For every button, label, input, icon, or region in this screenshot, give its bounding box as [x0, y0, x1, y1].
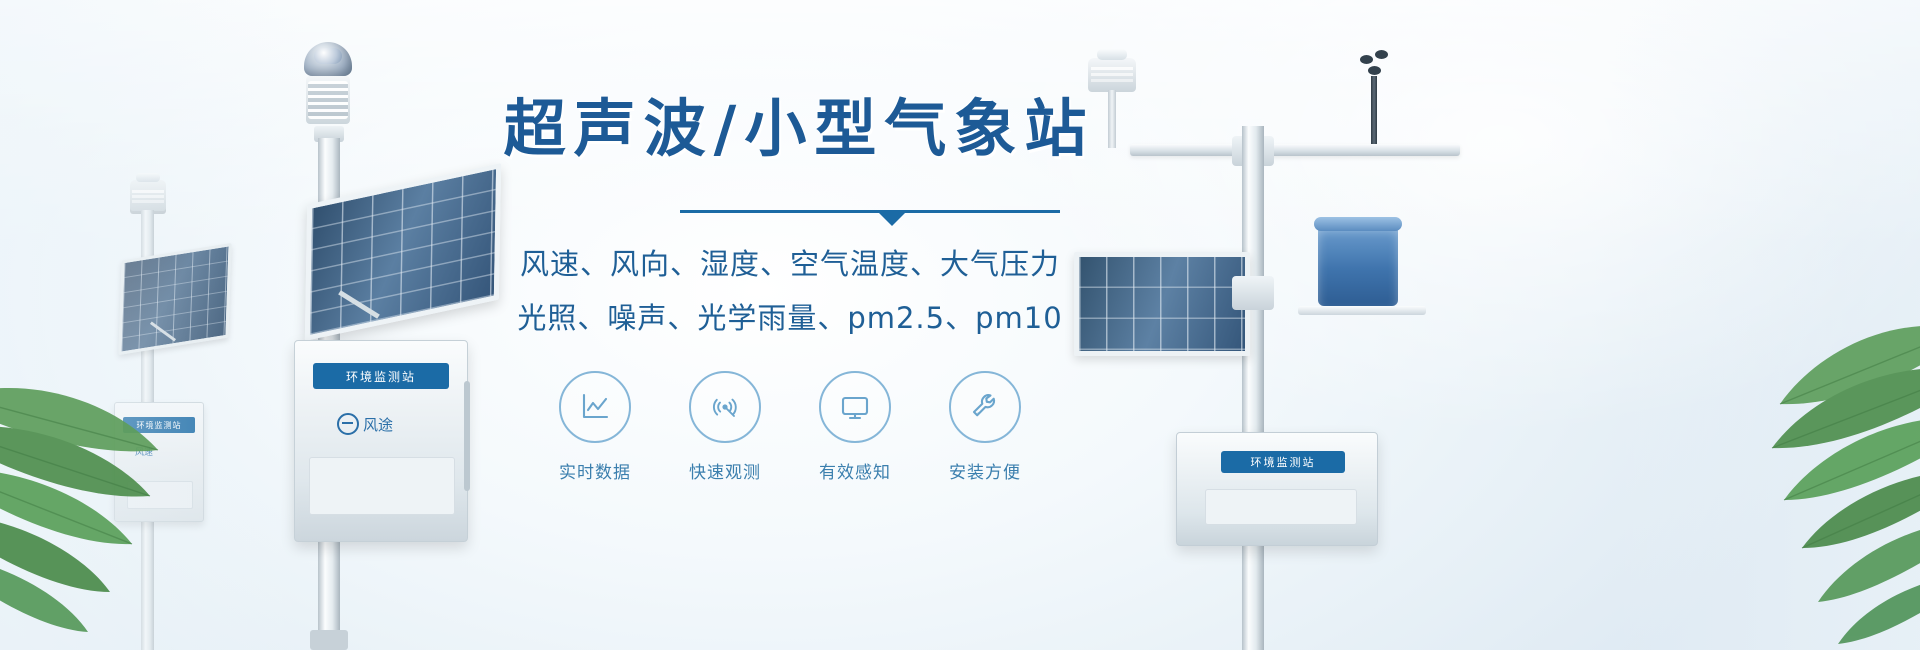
- mast-base: [310, 630, 348, 650]
- feature-list: 实时数据 快速观测: [553, 371, 1027, 483]
- wrench-tool-icon: [949, 371, 1021, 443]
- rain-gauge-shelf: [1298, 306, 1426, 315]
- title-divider: [680, 201, 1060, 227]
- mid-mast-clamp: [1232, 276, 1274, 310]
- feature-label: 安装方便: [949, 458, 1021, 483]
- subtitle-line-2: 光照、噪声、光学雨量、pm2.5、pm10: [517, 295, 1062, 337]
- feature-item-realtime-data[interactable]: 实时数据: [553, 371, 637, 483]
- leaf-decoration-right-icon: [1680, 286, 1920, 650]
- banner-content: 超声波/小型气象站 风速、风向、湿度、空气温度、大气压力 光照、噪声、光学雨量、…: [430, 96, 1150, 516]
- feature-label: 有效感知: [819, 458, 891, 483]
- feature-item-easy-installation[interactable]: 安装方便: [943, 371, 1027, 483]
- anemometer-stem: [1371, 76, 1377, 148]
- line-chart-icon: [559, 371, 631, 443]
- feature-item-effective-sensing[interactable]: 有效感知: [813, 371, 897, 483]
- leaf-decoration-left-icon: [0, 330, 240, 650]
- feature-item-fast-observation[interactable]: 快速观测: [683, 371, 767, 483]
- page-title: 超声波/小型气象站: [504, 96, 1095, 161]
- cross-arm: [1130, 144, 1460, 156]
- subtitle-line-1: 风速、风向、湿度、空气温度、大气压力: [520, 241, 1060, 283]
- divider-triangle-icon: [878, 212, 906, 226]
- banner-stage: 环境监测站 风速 环境监测站 风途: [0, 0, 1920, 650]
- louvered-radiation-shield-icon: [306, 76, 350, 124]
- monitor-display-icon: [819, 371, 891, 443]
- cabinet-brand-label: 风途: [363, 414, 393, 435]
- cabinet-plate-label: 环境监测站: [1221, 451, 1345, 473]
- divider-line: [680, 210, 1060, 213]
- control-cabinet: 环境监测站: [1176, 432, 1378, 546]
- feature-label: 实时数据: [559, 458, 631, 483]
- ultrasonic-wind-sensor-icon: [1088, 58, 1136, 92]
- total-radiation-dome-sensor-icon: [304, 42, 352, 76]
- radar-signal-icon: [689, 371, 761, 443]
- station-mast: [1242, 126, 1264, 650]
- rain-gauge-icon: [1318, 224, 1398, 306]
- cabinet-vent-slot: [1205, 489, 1357, 525]
- radiation-shield-sensor-icon: [130, 180, 166, 214]
- brand-mark-icon: [337, 413, 359, 435]
- feature-label: 快速观测: [689, 458, 761, 483]
- cabinet-plate-label: 环境监测站: [313, 363, 449, 389]
- cabinet-brand: 风途: [337, 413, 393, 435]
